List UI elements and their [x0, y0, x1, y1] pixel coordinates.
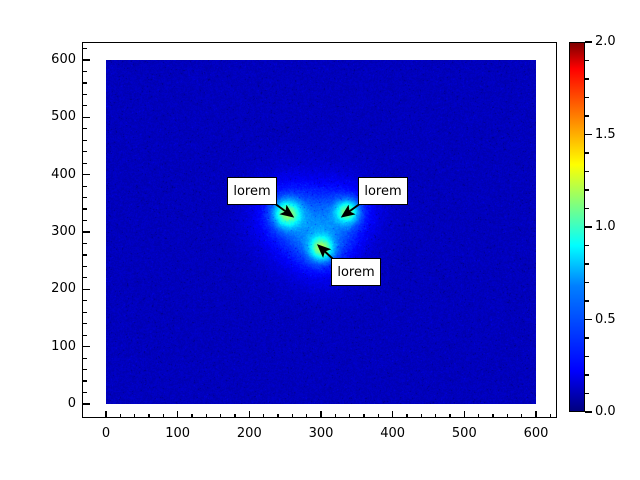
x-tick-label: 100: [148, 427, 208, 440]
y-tick-minor: [82, 369, 87, 370]
y-tick-major: [82, 59, 90, 60]
x-tick-minor: [234, 414, 235, 418]
colorbar-tick-minor: [585, 393, 589, 394]
y-tick-minor: [82, 197, 87, 198]
y-tick-minor: [82, 128, 87, 129]
x-tick-minor: [406, 414, 407, 418]
heatmap-image: [106, 60, 536, 404]
y-tick-minor: [82, 266, 87, 267]
y-tick-label: 600: [51, 53, 76, 66]
colorbar-tick-minor: [585, 374, 589, 375]
figure-canvas: 01002003004005006000100200300400500600 2…: [0, 0, 640, 480]
y-tick-minor: [82, 82, 87, 83]
y-tick-minor: [82, 277, 87, 278]
y-tick-minor: [82, 220, 87, 221]
x-tick-label: 200: [219, 427, 279, 440]
x-tick-major: [105, 411, 106, 418]
colorbar-tick-label: 1.5: [595, 128, 616, 141]
y-tick-label: 100: [51, 340, 76, 353]
y-tick-minor: [82, 186, 87, 187]
colorbar-tick-minor: [585, 171, 589, 172]
y-tick-major: [82, 231, 90, 232]
y-tick-label: 400: [51, 168, 76, 181]
x-tick-minor: [120, 414, 121, 418]
y-tick-minor: [82, 208, 87, 209]
x-tick-minor: [292, 414, 293, 418]
x-tick-minor: [378, 414, 379, 418]
colorbar-tick-major: [585, 134, 592, 135]
y-tick-minor: [82, 254, 87, 255]
x-tick-minor: [134, 414, 135, 418]
x-tick-major: [177, 411, 178, 418]
x-tick-label: 500: [434, 427, 494, 440]
y-tick-major: [82, 403, 90, 404]
y-tick-minor: [82, 323, 87, 324]
colorbar-tick-major: [585, 411, 592, 412]
x-tick-major: [249, 411, 250, 418]
colorbar-tick-minor: [585, 97, 589, 98]
x-tick-minor: [478, 414, 479, 418]
colorbar-tick-label: 0.5: [595, 313, 616, 326]
x-tick-minor: [492, 414, 493, 418]
x-tick-minor: [277, 414, 278, 418]
y-tick-major: [82, 117, 90, 118]
x-tick-label: 400: [363, 427, 423, 440]
x-tick-minor: [206, 414, 207, 418]
x-tick-label: 300: [291, 427, 351, 440]
colorbar-tick-minor: [585, 189, 589, 190]
colorbar-tick-major: [585, 41, 592, 42]
x-tick-label: 600: [506, 427, 566, 440]
y-tick-minor: [82, 335, 87, 336]
y-tick-minor: [82, 358, 87, 359]
y-tick-minor: [82, 380, 87, 381]
y-tick-minor: [82, 140, 87, 141]
y-tick-major: [82, 346, 90, 347]
colorbar-gradient: [569, 42, 585, 412]
x-tick-minor: [363, 414, 364, 418]
x-tick-minor: [550, 414, 551, 418]
y-tick-major: [82, 289, 90, 290]
x-tick-minor: [521, 414, 522, 418]
x-tick-label: 0: [76, 427, 136, 440]
y-tick-minor: [82, 312, 87, 313]
annotation-lorem-3[interactable]: lorem: [331, 258, 381, 286]
y-tick-minor: [82, 94, 87, 95]
colorbar-tick-minor: [585, 337, 589, 338]
colorbar-tick-major: [585, 319, 592, 320]
x-tick-minor: [163, 414, 164, 418]
colorbar: [569, 42, 585, 412]
x-tick-minor: [263, 414, 264, 418]
y-tick-minor: [82, 151, 87, 152]
annotation-lorem-2[interactable]: lorem: [358, 177, 408, 205]
y-tick-label: 200: [51, 282, 76, 295]
x-tick-minor: [349, 414, 350, 418]
colorbar-tick-minor: [585, 78, 589, 79]
y-tick-minor: [82, 300, 87, 301]
x-tick-major: [320, 411, 321, 418]
x-tick-minor: [421, 414, 422, 418]
y-tick-minor: [82, 163, 87, 164]
colorbar-tick-minor: [585, 300, 589, 301]
annotation-lorem-1[interactable]: lorem: [227, 177, 277, 205]
x-tick-major: [392, 411, 393, 418]
colorbar-tick-minor: [585, 263, 589, 264]
x-tick-minor: [191, 414, 192, 418]
colorbar-tick-label: 1.0: [595, 220, 616, 233]
y-tick-label: 500: [51, 110, 76, 123]
y-tick-major: [82, 174, 90, 175]
colorbar-tick-minor: [585, 208, 589, 209]
y-tick-label: 300: [51, 225, 76, 238]
colorbar-tick-minor: [585, 115, 589, 116]
y-tick-minor: [82, 71, 87, 72]
colorbar-tick-minor: [585, 245, 589, 246]
colorbar-tick-minor: [585, 282, 589, 283]
x-tick-minor: [335, 414, 336, 418]
x-tick-minor: [435, 414, 436, 418]
y-tick-minor: [82, 243, 87, 244]
x-tick-major: [464, 411, 465, 418]
colorbar-tick-label: 2.0: [595, 35, 616, 48]
x-tick-minor: [220, 414, 221, 418]
colorbar-tick-major: [585, 226, 592, 227]
colorbar-tick-minor: [585, 152, 589, 153]
x-tick-minor: [507, 414, 508, 418]
x-tick-minor: [306, 414, 307, 418]
colorbar-tick-minor: [585, 60, 589, 61]
x-tick-major: [535, 411, 536, 418]
y-tick-minor: [82, 392, 87, 393]
x-tick-minor: [148, 414, 149, 418]
colorbar-tick-label: 0.0: [595, 405, 616, 418]
y-tick-minor: [82, 48, 87, 49]
y-tick-label: 0: [68, 397, 76, 410]
y-tick-minor: [82, 105, 87, 106]
colorbar-tick-minor: [585, 356, 589, 357]
x-tick-minor: [449, 414, 450, 418]
